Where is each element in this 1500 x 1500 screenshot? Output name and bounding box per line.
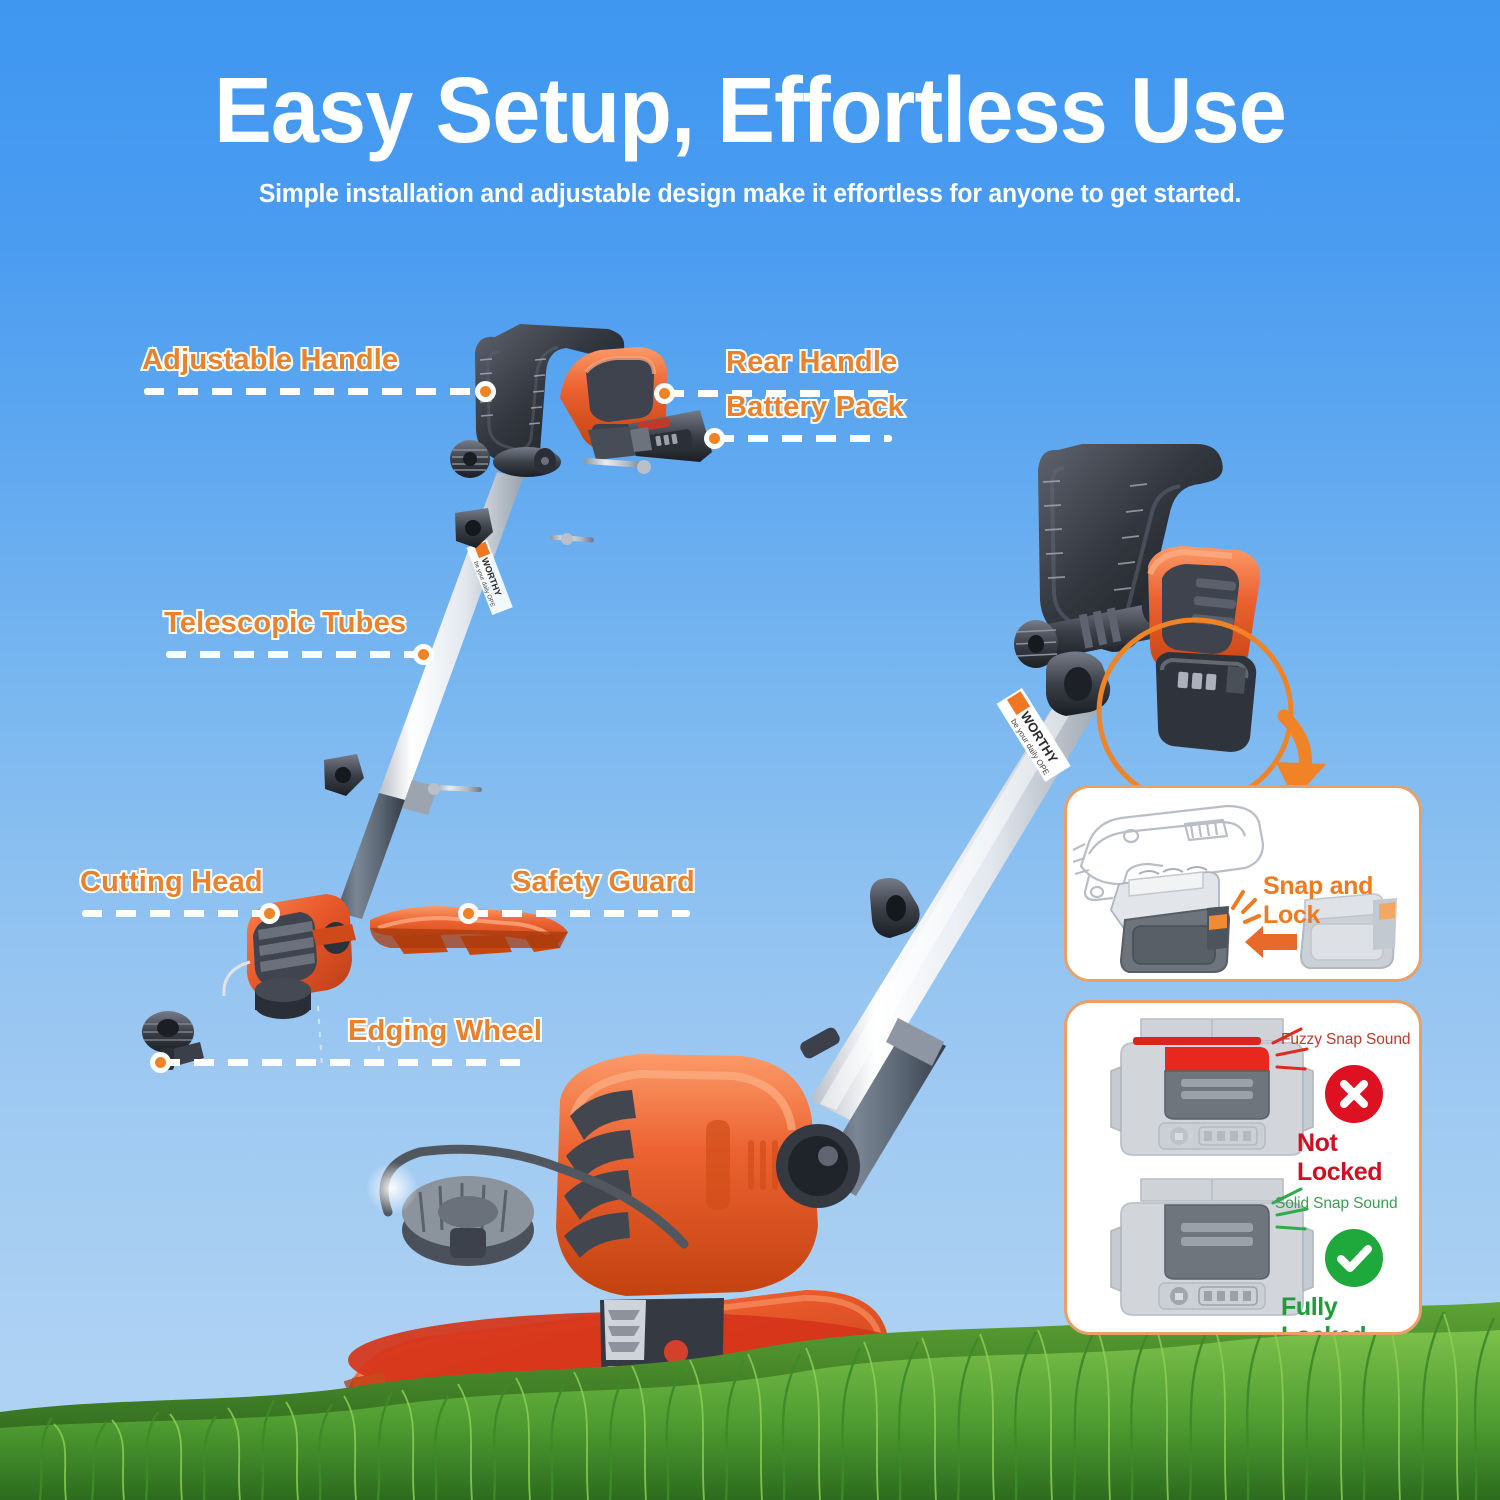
insert-arrow <box>1245 926 1297 958</box>
battery-assembled <box>1156 652 1257 752</box>
snap-and-lock-title: Snap and Lock <box>1263 872 1419 930</box>
shaft-clip <box>870 878 920 938</box>
inset-panel-lock-states: Fuzzy Snap Sound Not Locked Solid Sn <box>1064 1000 1422 1335</box>
leader-line <box>82 910 270 917</box>
solid-snap-sound-label: Solid Snap Sound <box>1275 1195 1398 1213</box>
exploded-trimmer: WORTHY be your daily OPE <box>142 324 712 1070</box>
inset-panel-snap-and-lock: Snap and Lock <box>1064 785 1422 982</box>
screw-1 <box>584 458 651 474</box>
leader-dot <box>475 381 496 402</box>
leader-dot <box>704 428 725 449</box>
screw-2 <box>550 533 594 545</box>
leader-dot <box>458 903 479 924</box>
leader-line <box>714 435 892 442</box>
leader-line <box>468 910 690 917</box>
fully-locked-label: Fully Locked <box>1281 1293 1419 1335</box>
leader-dot <box>259 903 280 924</box>
callout-label: Cutting Head <box>80 866 263 899</box>
knob-wing-2 <box>324 754 364 796</box>
callout-label: Edging Wheel <box>348 1015 542 1048</box>
leader-dot <box>654 383 675 404</box>
leader-dash <box>144 388 486 395</box>
cross-icon <box>1325 1065 1383 1123</box>
callout-label: Battery Pack <box>726 391 904 424</box>
leader-dash <box>166 651 424 658</box>
leader-dash <box>82 910 270 917</box>
leader-dash <box>160 1059 532 1066</box>
callout-edging-wheel: Edging Wheel <box>348 1015 542 1048</box>
callout-rear-handle: Rear Handle <box>726 346 897 379</box>
callout-battery-pack: Battery Pack <box>726 391 904 424</box>
leader-dot <box>150 1052 171 1073</box>
leader-dot <box>413 644 434 665</box>
callout-label: Safety Guard <box>512 866 695 899</box>
leader-line <box>144 388 486 395</box>
callout-adjustable-handle: Adjustable Handle <box>142 344 398 377</box>
callout-safety-guard: Safety Guard <box>512 866 695 899</box>
callout-cutting-head: Cutting Head <box>80 866 263 899</box>
callout-label: Adjustable Handle <box>142 344 398 377</box>
leader-line <box>166 651 424 658</box>
leader-line <box>160 1059 532 1066</box>
check-icon <box>1325 1229 1383 1287</box>
leader-dash <box>468 910 690 917</box>
leader-dash <box>714 435 892 442</box>
fuzzy-snap-sound-label: Fuzzy Snap Sound <box>1281 1031 1410 1049</box>
callout-label: Telescopic Tubes <box>164 607 406 640</box>
callout-label: Rear Handle <box>726 346 897 379</box>
screw-3 <box>428 783 482 795</box>
callout-telescopic-tubes: Telescopic Tubes <box>164 607 406 640</box>
knob-upper <box>450 440 490 478</box>
